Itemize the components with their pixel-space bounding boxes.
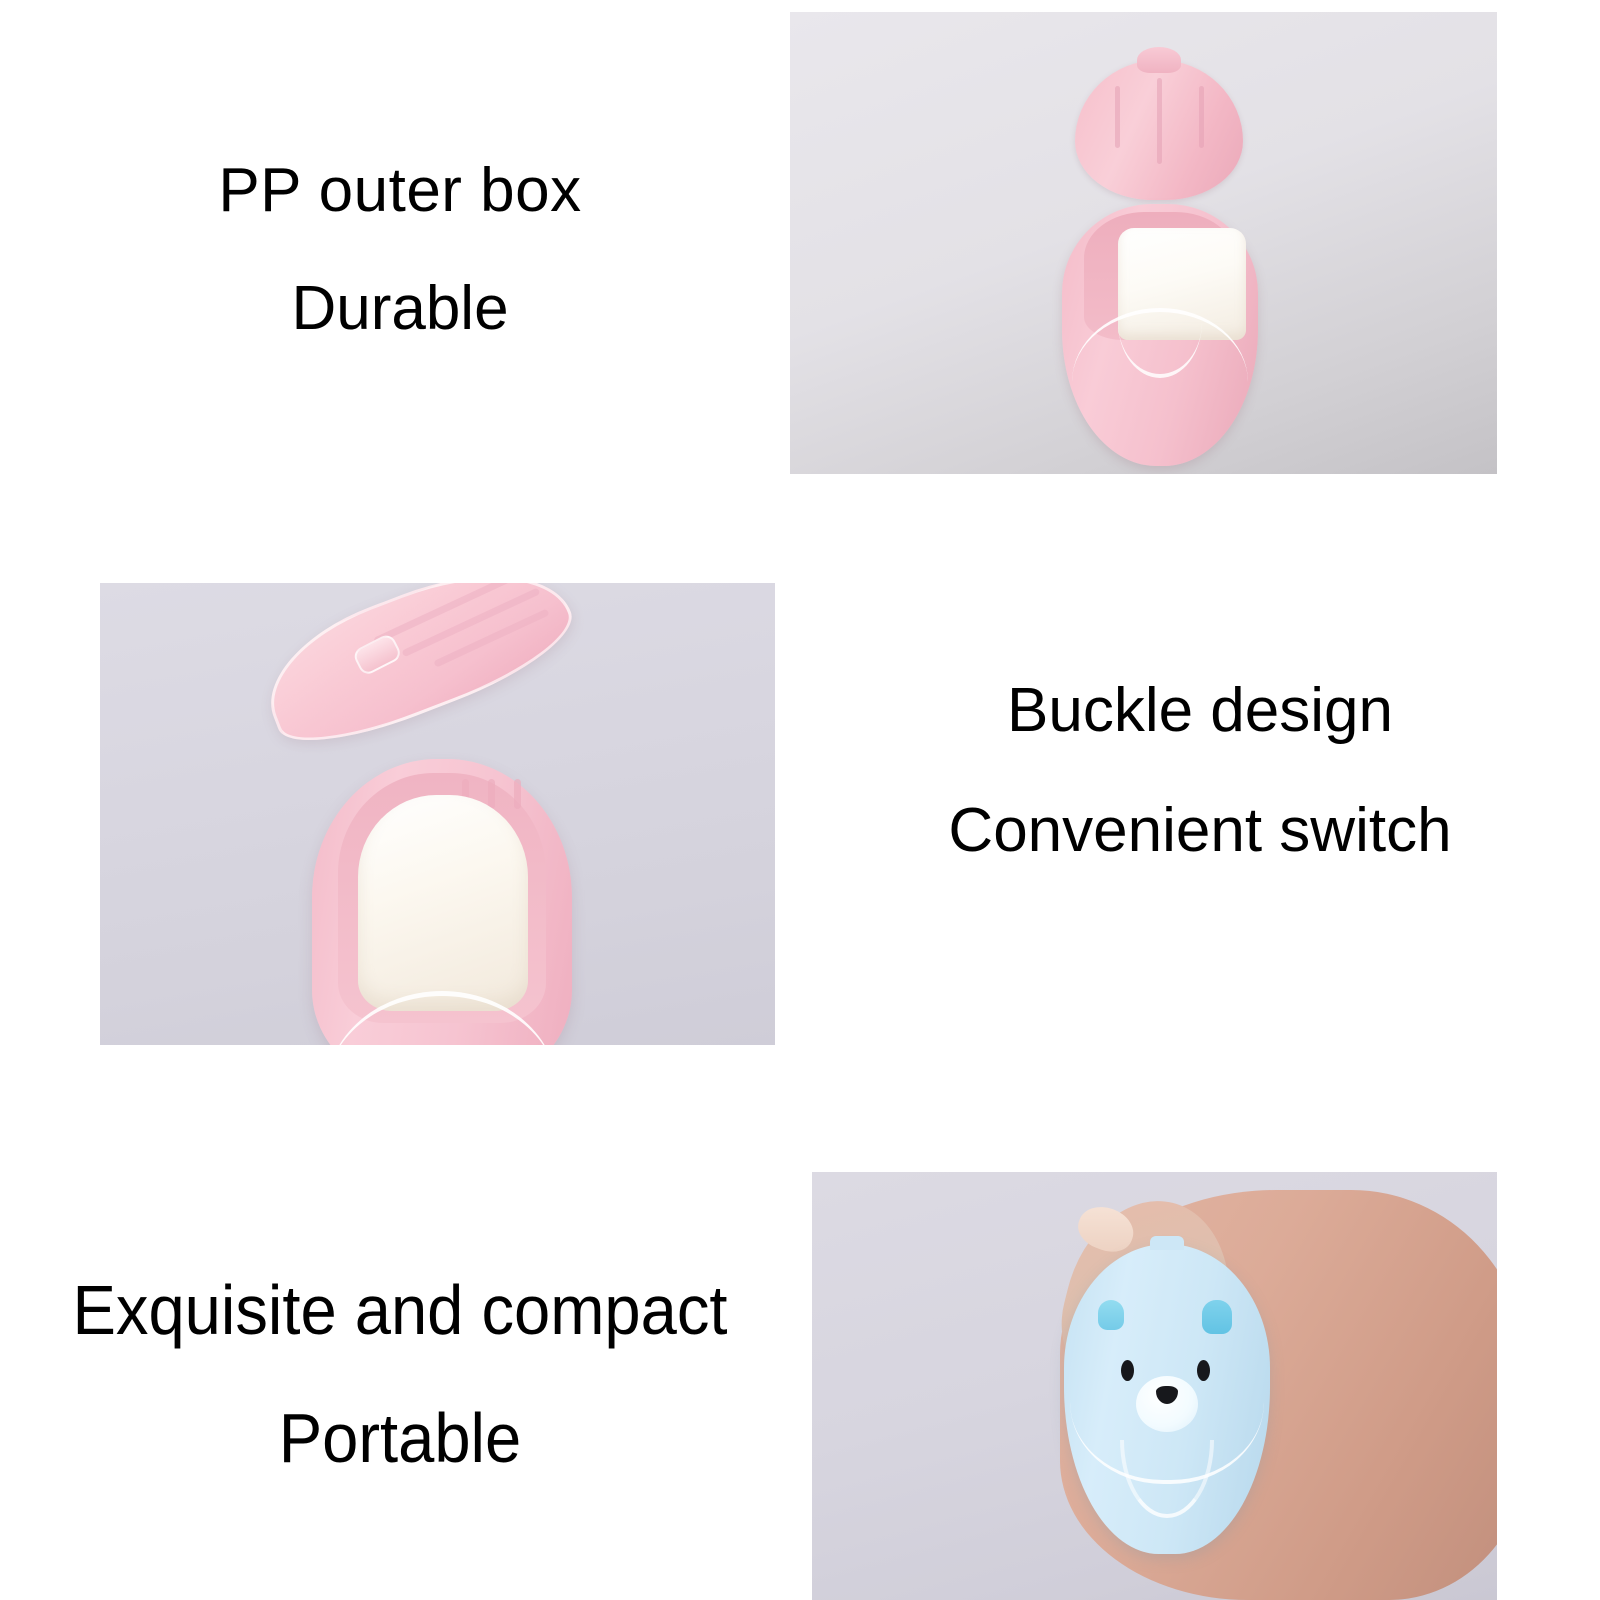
lid-rib — [433, 608, 549, 667]
blue-bear-case — [1064, 1244, 1270, 1554]
caption-buckle-line-2: Convenient switch — [850, 800, 1550, 862]
case-notch — [514, 779, 521, 809]
case-notch — [488, 779, 495, 809]
caption-buckle-line-1: Buckle design — [850, 680, 1550, 742]
buckle-tab — [351, 632, 403, 677]
pink-case-lid — [1075, 60, 1243, 200]
lid-rib — [1157, 78, 1162, 164]
caption-pp-line-2: Durable — [60, 278, 740, 340]
caption-buckle-design: Buckle design Convenient switch — [850, 680, 1550, 862]
bear-ear-right — [1202, 1300, 1232, 1334]
product-photo-pink-case-closeup — [100, 583, 775, 1045]
bear-eye-left — [1121, 1360, 1134, 1381]
pink-case-lid-tilted — [249, 583, 585, 764]
case-opening — [338, 773, 546, 1023]
bear-ear-left — [1098, 1300, 1124, 1330]
caption-compact-line-1: Exquisite and compact — [28, 1275, 772, 1345]
bear-chin-seam — [1120, 1440, 1214, 1518]
caption-pp-line-1: PP outer box — [60, 160, 740, 222]
soap-sheet-stack — [358, 795, 528, 1011]
bear-eye-right — [1197, 1360, 1210, 1381]
bear-lid-tab — [1150, 1236, 1184, 1250]
pink-case-body-closeup — [312, 759, 572, 1045]
product-photo-pink-case-open — [790, 12, 1497, 474]
caption-pp-outer-box: PP outer box Durable — [60, 160, 740, 340]
lid-rib — [1199, 86, 1204, 148]
caption-exquisite-compact: Exquisite and compact Portable — [28, 1275, 772, 1473]
product-photo-blue-bear-in-hand — [812, 1172, 1497, 1600]
lid-rib — [1115, 86, 1120, 148]
pink-case-body — [1062, 204, 1258, 466]
caption-compact-line-2: Portable — [28, 1403, 772, 1473]
